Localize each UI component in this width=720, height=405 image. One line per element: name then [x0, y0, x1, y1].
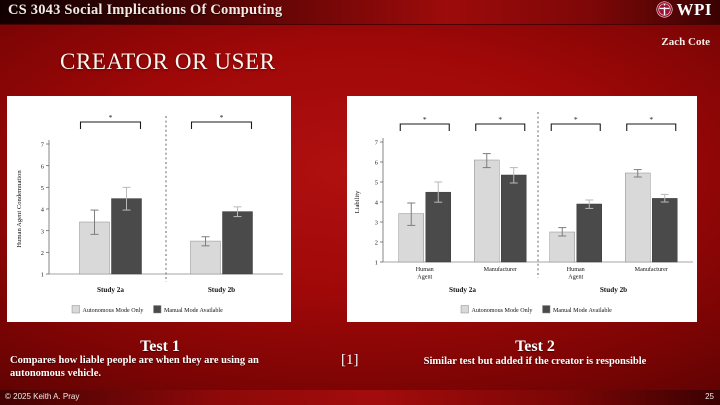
svg-text:*: * [109, 113, 113, 122]
svg-text:*: * [220, 113, 224, 122]
chart-left-panel: 1234567Human Agent Condemnation*Study 2a… [7, 96, 291, 322]
svg-text:Manufacturer: Manufacturer [484, 266, 517, 273]
svg-text:2: 2 [41, 250, 44, 257]
author-name: Zach Cote [661, 36, 710, 48]
svg-text:*: * [498, 115, 502, 124]
svg-text:Autonomous Mode Only: Autonomous Mode Only [472, 308, 534, 314]
svg-text:Study 2b: Study 2b [208, 286, 235, 294]
svg-text:6: 6 [375, 160, 378, 167]
svg-text:*: * [574, 115, 578, 124]
course-title: CS 3043 Social Implications Of Computing [8, 2, 282, 19]
svg-text:3: 3 [375, 220, 378, 227]
caption-right-body: Similar test but added if the creator is… [375, 355, 695, 368]
svg-text:Manual Mode Available: Manual Mode Available [553, 308, 612, 314]
svg-text:Study 2a: Study 2a [449, 286, 476, 294]
slide-canvas: CS 3043 Social Implications Of Computing… [0, 0, 720, 405]
svg-text:Human: Human [416, 267, 434, 273]
chart-left-svg: 1234567Human Agent Condemnation*Study 2a… [7, 96, 291, 322]
caption-right: Test 2 Similar test but added if the cre… [375, 338, 695, 368]
svg-text:*: * [423, 115, 427, 124]
wpi-logo: WPI [656, 1, 713, 18]
wpi-seal-icon [656, 1, 673, 18]
svg-text:Study 2a: Study 2a [97, 286, 124, 294]
svg-text:Manufacturer: Manufacturer [635, 266, 668, 273]
svg-text:1: 1 [41, 272, 44, 279]
svg-text:2: 2 [375, 240, 378, 247]
citation-reference[interactable]: [1] [341, 352, 359, 369]
footer-page-number: 25 [705, 392, 714, 401]
svg-text:Liability: Liability [354, 190, 361, 213]
chart-left-plot: 1234567Human Agent Condemnation*Study 2a… [7, 96, 291, 322]
caption-right-heading: Test 2 [375, 338, 695, 356]
svg-text:Human Agent Condemnation: Human Agent Condemnation [16, 170, 23, 248]
slide-header-bar: CS 3043 Social Implications Of Computing… [0, 0, 720, 25]
svg-text:Agent: Agent [417, 274, 432, 280]
svg-text:3: 3 [41, 228, 44, 235]
svg-text:*: * [649, 115, 653, 124]
svg-text:5: 5 [41, 185, 44, 192]
wpi-wordmark: WPI [677, 1, 713, 18]
svg-text:6: 6 [41, 163, 44, 170]
svg-text:Human: Human [567, 267, 585, 273]
caption-left-body: Compares how liable people are when they… [10, 354, 310, 380]
page-title: CREATOR OR USER [60, 49, 276, 75]
svg-text:Agent: Agent [568, 274, 583, 280]
chart-right-svg: 1234567Liability*HumanAgent*Manufacturer… [347, 96, 697, 322]
svg-text:1: 1 [375, 260, 378, 267]
caption-left: Test 1 Compares how liable people are wh… [10, 338, 310, 380]
footer-copyright: © 2025 Keith A. Pray [5, 392, 79, 401]
svg-text:5: 5 [375, 180, 378, 187]
svg-text:Study 2b: Study 2b [600, 286, 627, 294]
svg-text:Autonomous Mode Only: Autonomous Mode Only [83, 308, 145, 314]
chart-right-plot: 1234567Liability*HumanAgent*Manufacturer… [347, 96, 697, 322]
chart-right-panel: 1234567Liability*HumanAgent*Manufacturer… [347, 96, 697, 322]
slide-footer: © 2025 Keith A. Pray 25 [0, 390, 720, 405]
svg-text:Manual Mode Available: Manual Mode Available [164, 308, 223, 314]
